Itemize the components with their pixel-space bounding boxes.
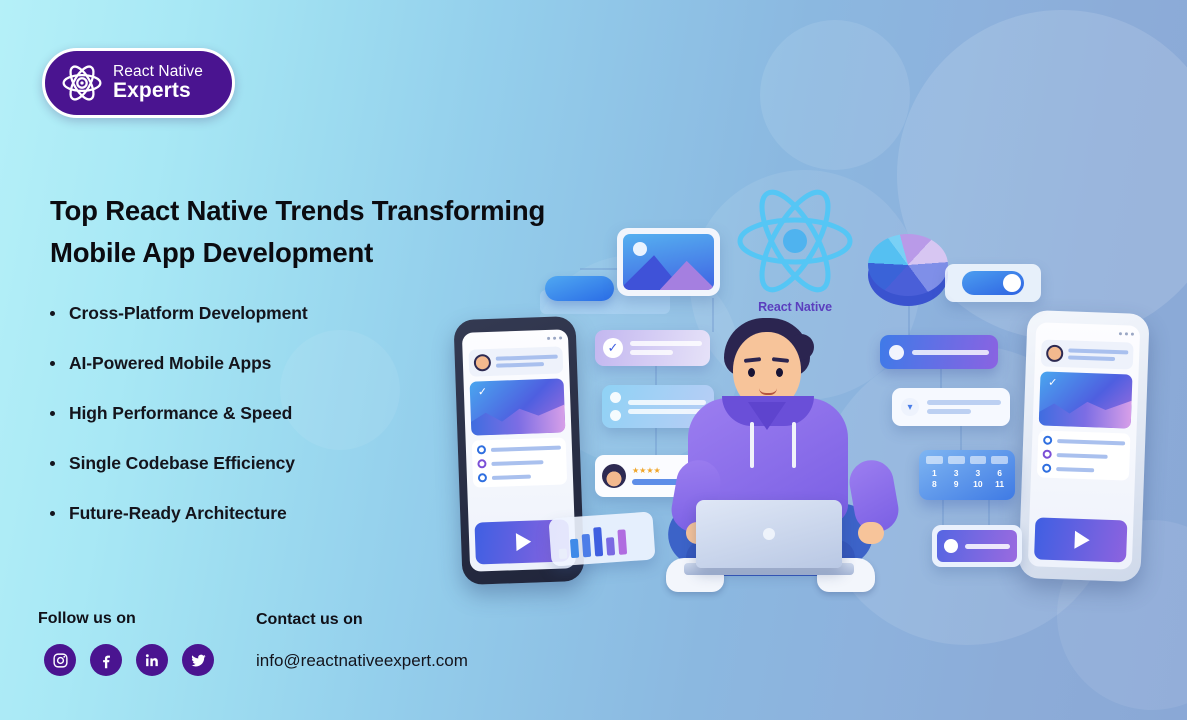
check-icon: ✓	[476, 386, 489, 399]
calendar-cell: 3	[970, 468, 987, 479]
bullet-dot-icon	[50, 361, 55, 366]
connector-line	[940, 369, 942, 389]
calendar-header	[926, 456, 1008, 464]
bullet-dot-icon	[50, 411, 55, 416]
status-dots-icon	[468, 336, 562, 342]
calendar-row: 8 9 10 11	[926, 479, 1008, 490]
list-item-label: Single Codebase Efficiency	[69, 453, 295, 474]
contact-us-label: Contact us on	[256, 611, 363, 629]
hero-illustration: React Native ✓	[440, 150, 1187, 620]
bullet-dot-icon	[50, 311, 55, 316]
calendar-cell: 10	[970, 479, 987, 490]
mobile-phone-light-mockup: ✓	[1018, 310, 1149, 582]
chart-bar	[570, 539, 579, 559]
list-item: AI-Powered Mobile Apps	[50, 353, 470, 403]
status-dots-icon	[1042, 329, 1134, 335]
brand-logo[interactable]: React Native Experts	[42, 48, 235, 118]
social-link-instagram[interactable]	[44, 644, 76, 676]
list-item: High Performance & Speed	[50, 403, 470, 453]
connector-line	[655, 428, 657, 456]
connector-line	[988, 500, 990, 526]
avatar-dot	[944, 539, 958, 553]
social-links	[44, 644, 214, 676]
phone-screen: ✓	[1028, 322, 1140, 569]
laptop	[696, 500, 842, 568]
social-link-twitter[interactable]	[182, 644, 214, 676]
calendar-card: 1 3 3 6 8 9 10 11	[919, 450, 1015, 500]
check-icon: ✓	[1046, 377, 1059, 390]
profile-card	[468, 346, 563, 376]
bar-chart-widget	[548, 511, 655, 566]
list-item: Cross-Platform Development	[50, 303, 470, 353]
feature-list: Cross-Platform Development AI-Powered Mo…	[50, 303, 470, 553]
bullet-dot-icon	[50, 461, 55, 466]
play-icon	[1074, 531, 1090, 550]
chart-bar	[582, 534, 592, 558]
connector-line	[960, 426, 962, 451]
list-item-label: AI-Powered Mobile Apps	[69, 353, 271, 374]
calendar-cell: 9	[948, 479, 965, 490]
toggle-switch[interactable]	[962, 271, 1024, 295]
avatar	[474, 354, 492, 372]
calendar-cell: 8	[926, 479, 943, 490]
avatar	[602, 464, 626, 488]
calendar-cell: 1	[926, 468, 943, 479]
calendar-cell: 3	[948, 468, 965, 479]
blue-pill-button[interactable]	[545, 276, 614, 301]
facebook-icon	[98, 652, 115, 669]
chart-bar	[593, 527, 603, 556]
bullet-dot-icon	[50, 511, 55, 516]
react-logo-icon	[735, 185, 855, 297]
toggle-card	[945, 264, 1041, 302]
list-item-label: High Performance & Speed	[69, 403, 292, 424]
calendar-row: 1 3 3 6	[926, 468, 1008, 479]
decorative-circle	[760, 20, 910, 170]
list-item: Single Codebase Efficiency	[50, 453, 470, 503]
instagram-icon	[52, 652, 69, 669]
landscape-image-icon	[623, 234, 714, 290]
developer-character-illustration	[660, 310, 910, 605]
list-item: Future-Ready Architecture	[50, 503, 470, 553]
connector-line	[580, 268, 620, 270]
list-item-label: Future-Ready Architecture	[69, 503, 287, 524]
toggle-knob	[1003, 274, 1021, 292]
laptop-logo-icon	[763, 528, 775, 540]
pie-chart-widget	[868, 230, 950, 310]
calendar-cell: 11	[991, 479, 1008, 490]
social-link-linkedin[interactable]	[136, 644, 168, 676]
chart-bar	[559, 548, 568, 559]
profile-card	[1041, 339, 1134, 369]
area-chart-widget: ✓	[1039, 371, 1133, 428]
calendar-cell: 6	[991, 468, 1008, 479]
chart-bar	[617, 529, 627, 555]
option-list	[1037, 430, 1131, 480]
chart-bar	[606, 537, 615, 555]
follow-us-label: Follow us on	[38, 610, 136, 628]
option-list	[472, 437, 568, 487]
purple-input-card	[932, 525, 1022, 567]
connector-line	[942, 500, 944, 526]
area-chart-widget: ✓	[470, 378, 566, 435]
list-item-label: Cross-Platform Development	[69, 303, 308, 324]
avatar	[1046, 345, 1064, 363]
play-icon	[516, 533, 532, 552]
atom-icon	[61, 62, 103, 104]
logo-line-2: Experts	[113, 80, 203, 101]
logo-line-1: React Native	[113, 64, 203, 80]
twitter-icon	[190, 652, 207, 669]
contact-email[interactable]: info@reactnativeexpert.com	[256, 651, 468, 671]
play-button[interactable]	[1034, 517, 1127, 562]
check-icon: ✓	[603, 338, 623, 358]
image-card	[617, 228, 720, 296]
linkedin-icon	[144, 652, 161, 669]
social-link-facebook[interactable]	[90, 644, 122, 676]
